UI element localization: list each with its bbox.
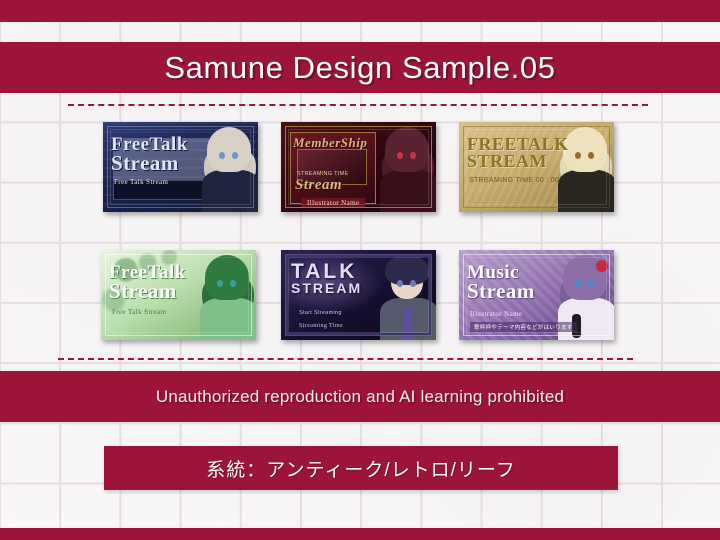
category-tag-label: 系統：アンティーク/レトロ/リーフ	[206, 455, 516, 482]
copyright-notice: Unauthorized reproduction and AI learnin…	[156, 387, 564, 407]
dashed-divider-bottom	[58, 358, 633, 360]
thumbnail-artwork: FreeTalk Stream Free Talk Stream	[103, 122, 258, 212]
page-title: Samune Design Sample.05	[164, 50, 555, 86]
thumbnail-card[interactable]: TALK STREAM Start Streaming Streaming Ti…	[281, 250, 436, 340]
thumbnail-artwork: Music Stream Illustrator Name 歌枠枠やテーマ内容な…	[459, 250, 614, 340]
thumbnail-artwork: FREETALK STREAM STREAMING TIME 00 : 00	[459, 122, 614, 212]
thumbnail-artwork: MemberShip Stream STREAMING TIME Illustr…	[281, 122, 436, 212]
thumbnail-artwork: FreeTalk Stream Free Talk Stream	[101, 250, 256, 340]
top-accent-band	[0, 0, 720, 22]
character-illustration	[378, 122, 436, 212]
thumbnail-card[interactable]: FreeTalk Stream Free Talk Stream	[103, 122, 258, 212]
thumbnail-card[interactable]: Music Stream Illustrator Name 歌枠枠やテーマ内容な…	[459, 250, 614, 340]
thumbnail-card[interactable]: FreeTalk Stream Free Talk Stream	[101, 250, 256, 340]
thumbnail-card[interactable]: MemberShip Stream STREAMING TIME Illustr…	[281, 122, 436, 212]
bottom-accent-band	[0, 528, 720, 540]
category-tag-box: 系統：アンティーク/レトロ/リーフ	[104, 446, 618, 490]
slide-canvas: Samune Design Sample.05 FreeTa	[0, 0, 720, 540]
dashed-divider-top	[68, 104, 648, 106]
title-band: Samune Design Sample.05	[0, 42, 720, 93]
notice-band: Unauthorized reproduction and AI learnin…	[0, 371, 720, 422]
thumbnail-card[interactable]: FREETALK STREAM STREAMING TIME 00 : 00	[459, 122, 614, 212]
thumbnail-artwork: TALK STREAM Start Streaming Streaming Ti…	[281, 250, 436, 340]
